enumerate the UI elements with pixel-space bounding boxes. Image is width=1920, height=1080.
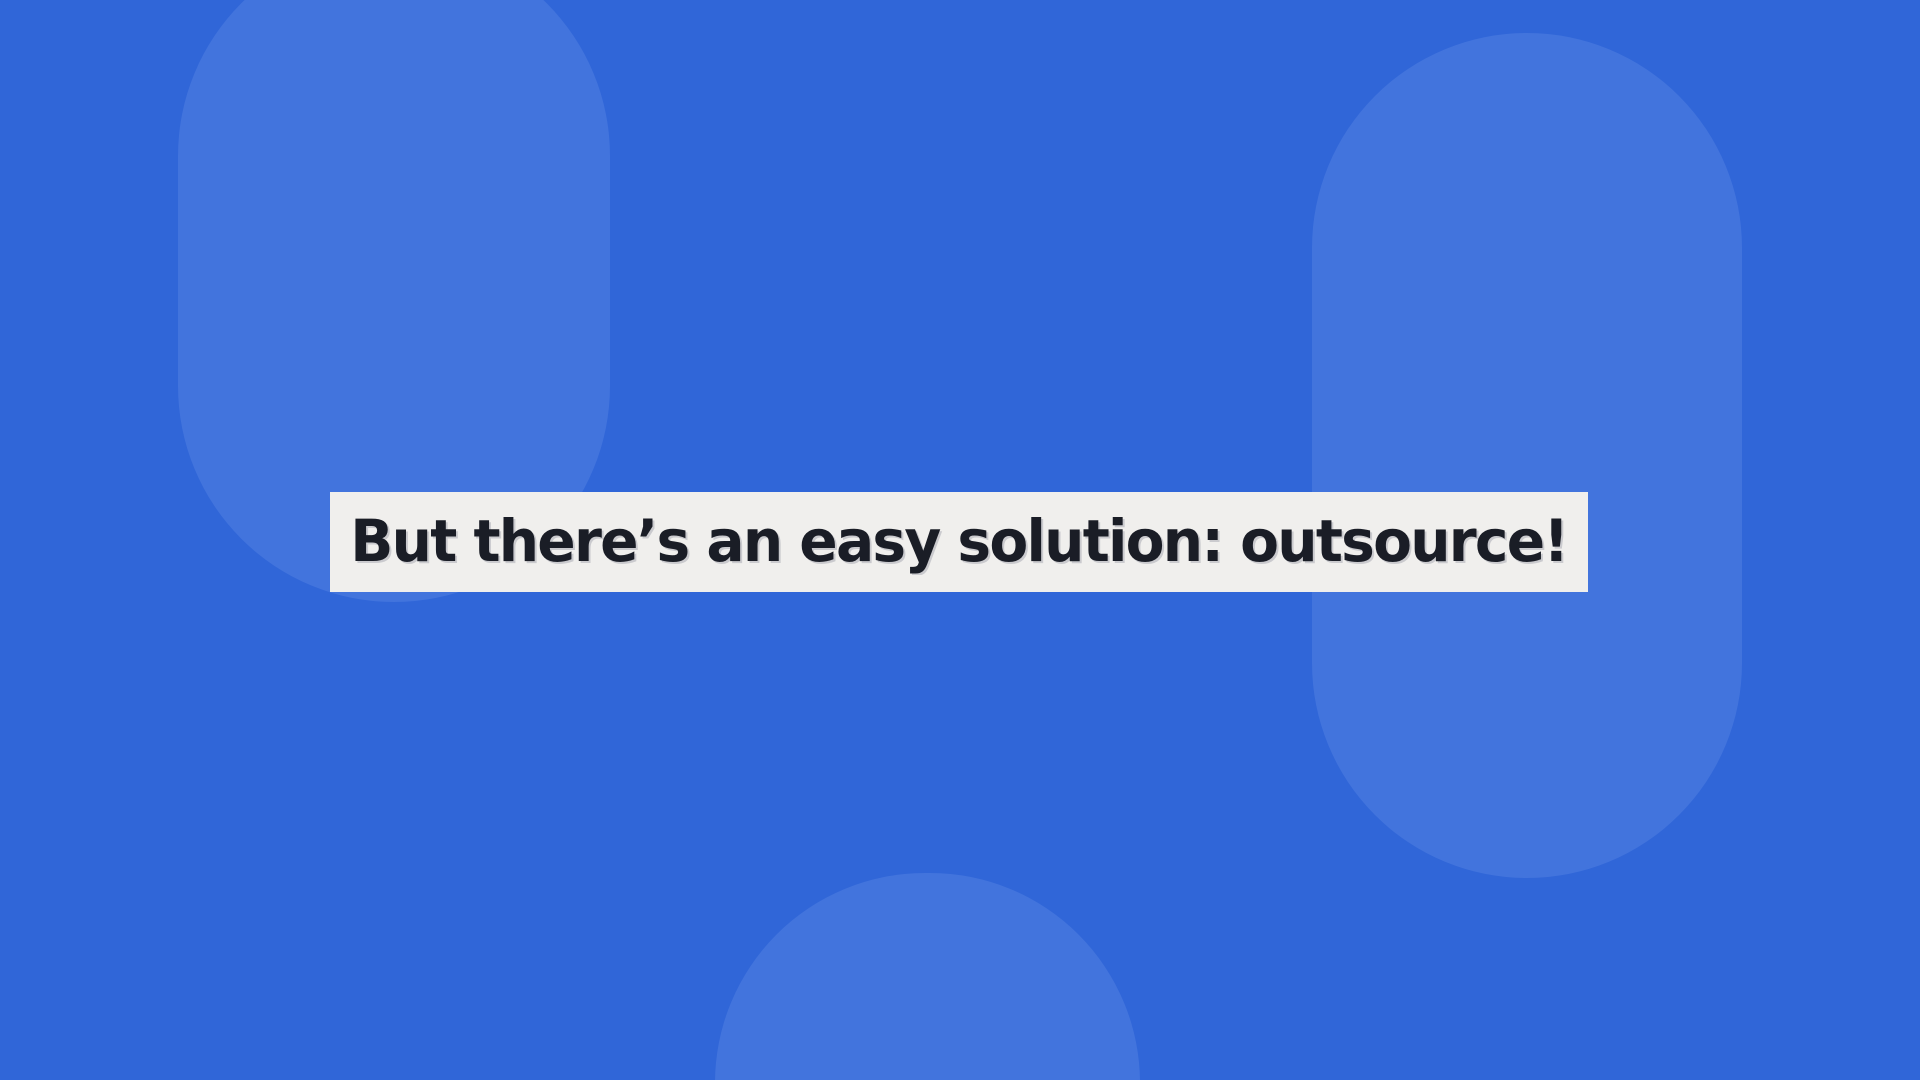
decorative-pill-bottom xyxy=(715,873,1140,1080)
caption-text: But there’s an easy solution: outsource! xyxy=(350,513,1567,571)
caption-banner: But there’s an easy solution: outsource! xyxy=(330,492,1588,592)
slide-canvas: But there’s an easy solution: outsource! xyxy=(0,0,1920,1080)
decorative-pill-right xyxy=(1312,33,1742,878)
